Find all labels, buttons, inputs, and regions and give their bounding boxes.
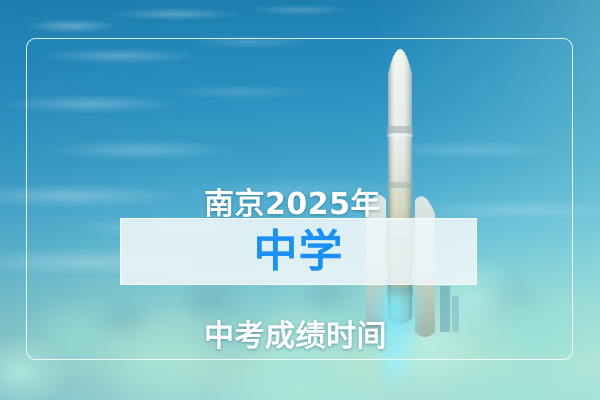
category-label: 中学 (254, 230, 344, 274)
headline-line-2: 中考成绩时间 (204, 315, 387, 359)
poster-image: 南京2025年 中考成绩时间 中学 (0, 0, 600, 400)
category-band: 中学 (120, 218, 477, 285)
